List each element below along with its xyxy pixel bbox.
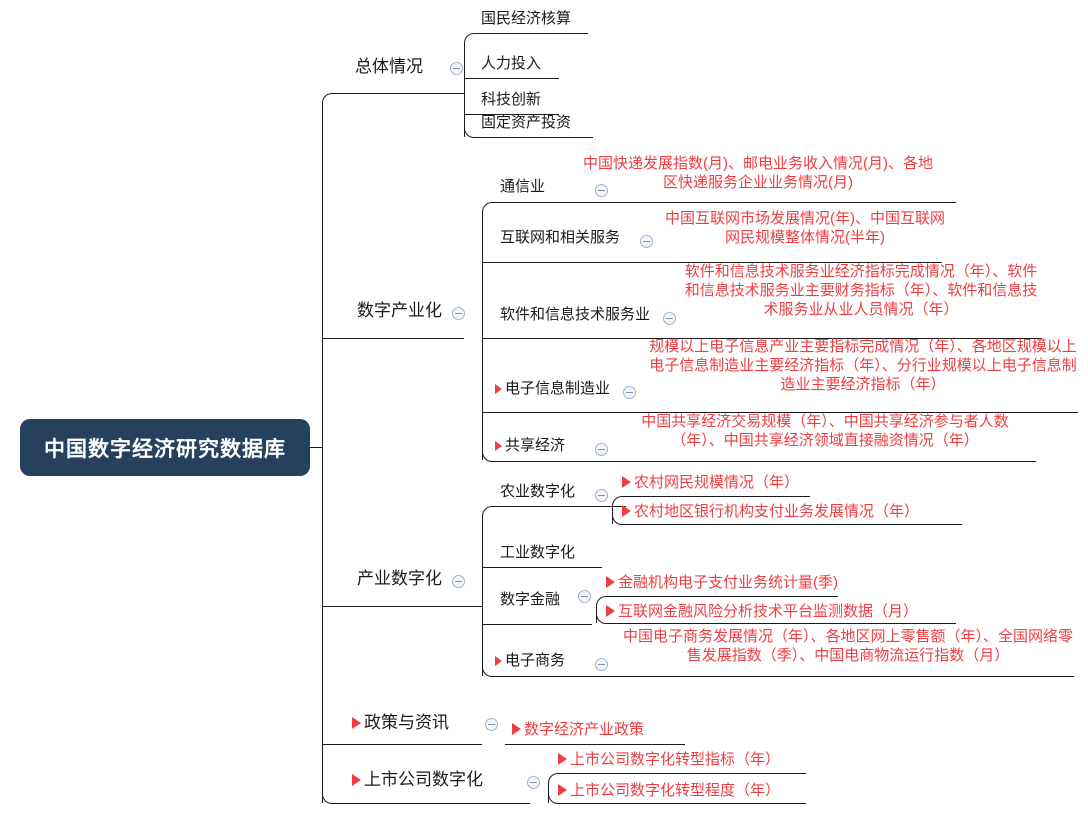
branch-上市公司数字化[interactable]: 上市公司数字化 [352, 769, 483, 790]
sub-label: 电子商务 [505, 652, 565, 669]
leaf-text: 金融机构电子支付业务统计量(季) [618, 574, 838, 591]
leaf-text: 规模以上电子信息产业主要指标完成情况（年）、各地区规模以上电子信息制造业主要经济… [649, 338, 1077, 393]
leaf-共享经济-indicators[interactable]: 中国共享经济交易规模（年）、中国共享经济参与者人数（年）、中国共享经济领域直接融… [620, 413, 1030, 451]
leaf-金融机构电子支付业务统计量[interactable]: 金融机构电子支付业务统计量(季) [606, 574, 838, 593]
red-triangle-icon [606, 576, 615, 588]
branch-工业数字化[interactable]: 工业数字化 [500, 544, 575, 563]
sub3-1-elbow [482, 506, 500, 518]
sub-label: 互联网和相关服务 [500, 229, 620, 246]
branch1-subspine [464, 43, 465, 137]
branch-软件和信息技术服务业[interactable]: 软件和信息技术服务业 [500, 306, 650, 325]
sub1-4-baseline [478, 137, 593, 138]
sub-label: 农业数字化 [500, 483, 575, 500]
branch1-elbow [322, 93, 342, 105]
branch-label: 数字产业化 [357, 301, 442, 320]
leaf-label: 科技创新 [481, 91, 541, 108]
leaf-上市公司数字化转型程度[interactable]: 上市公司数字化转型程度（年） [558, 782, 780, 801]
leaf-text: 中国快递发展指数(月)、邮电业务收入情况(月)、各地区快递服务企业业务情况(月) [583, 155, 933, 191]
red-triangle-icon [558, 784, 567, 796]
collapse-toggle-农业数字化[interactable] [595, 489, 608, 502]
leaf-label: 固定资产投资 [481, 114, 571, 131]
red-triangle-icon [606, 605, 615, 617]
leaf-text: 数字经济产业政策 [524, 721, 644, 738]
mindmap-canvas: 中国数字经济研究数据库 总体情况 国民经济核算 人力投入 科技创新 固定资产投资… [0, 0, 1088, 831]
sub1-1-elbow [464, 33, 482, 45]
red-triangle-icon [352, 774, 361, 786]
leaf-互联网金融风险分析技术平台监测数据[interactable]: 互联网金融风险分析技术平台监测数据（月） [606, 603, 918, 622]
leaf-互联网和相关服务-indicators[interactable]: 中国互联网市场发展情况(年)、中国互联网网民规模整体情况(半年) [665, 210, 945, 248]
root-label: 中国数字经济研究数据库 [44, 433, 286, 463]
branch4-baseline [322, 744, 482, 745]
sub3-1-1-baseline [622, 496, 810, 497]
branch3-baseline [322, 606, 482, 607]
branch-共享经济[interactable]: 共享经济 [495, 437, 565, 456]
collapse-toggle-软件和信息技术服务业[interactable] [663, 312, 676, 325]
red-triangle-icon [495, 656, 502, 666]
branch-农业数字化[interactable]: 农业数字化 [500, 483, 575, 502]
sub-label: 工业数字化 [500, 544, 575, 561]
sub3-2-baseline [482, 567, 602, 568]
collapse-toggle-互联网和相关服务[interactable] [640, 235, 653, 248]
collapse-toggle-总体情况[interactable] [450, 62, 463, 75]
sub2-1-elbow [482, 202, 500, 214]
branch-label: 上市公司数字化 [364, 770, 483, 789]
sub2-5-baseline [496, 461, 1036, 462]
sub5-2-baseline [558, 803, 806, 804]
leaf-label: 人力投入 [481, 55, 541, 72]
leaf-text: 软件和信息技术服务业经济指标完成情况（年）、软件和信息技术服务业主要财务指标（年… [685, 263, 1038, 318]
collapse-toggle-产业数字化[interactable] [452, 575, 465, 588]
leaf-text: 中国互联网市场发展情况(年)、中国互联网网民规模整体情况(半年) [665, 210, 945, 246]
sub-label: 软件和信息技术服务业 [500, 306, 650, 323]
collapse-toggle-电子商务[interactable] [595, 658, 608, 671]
leaf-text: 中国共享经济交易规模（年）、中国共享经济参与者人数（年）、中国共享经济领域直接融… [641, 413, 1009, 449]
leaf-固定资产投资[interactable]: 固定资产投资 [481, 114, 571, 133]
sub-label: 共享经济 [505, 437, 565, 454]
collapse-toggle-共享经济[interactable] [595, 443, 608, 456]
sub-label: 电子信息制造业 [505, 380, 610, 397]
sub1-2-baseline [464, 78, 559, 79]
red-triangle-icon [512, 723, 521, 735]
leaf-text: 农村网民规模情况（年） [634, 474, 799, 491]
branch2-baseline [322, 338, 464, 339]
sub3-1-2-baseline [622, 524, 962, 525]
leaf-text: 上市公司数字化转型程度（年） [570, 782, 780, 799]
collapse-toggle-上市公司数字化[interactable] [527, 776, 540, 789]
sub-label: 数字金融 [500, 591, 560, 608]
sub3-1-baseline [496, 506, 626, 507]
red-triangle-icon [495, 441, 502, 451]
branch-label: 政策与资讯 [364, 713, 449, 732]
sub4-1-baseline [505, 744, 685, 745]
leaf-text: 中国电子商务发展情况（年）、各地区网上零售额（年）、全国网络零售发展指数（季）、… [623, 628, 1073, 664]
root-connector [310, 447, 322, 448]
sub1-1-baseline [478, 33, 588, 34]
sub3-3-2-baseline [606, 623, 956, 624]
sub3-4-baseline [496, 676, 1074, 677]
root-node[interactable]: 中国数字经济研究数据库 [20, 419, 310, 476]
branch-数字金融[interactable]: 数字金融 [500, 591, 560, 610]
collapse-toggle-电子信息制造业[interactable] [623, 386, 636, 399]
branch-label: 总体情况 [355, 57, 423, 76]
branch-电子信息制造业[interactable]: 电子信息制造业 [495, 380, 610, 399]
branch-数字产业化[interactable]: 数字产业化 [357, 300, 442, 321]
leaf-text: 上市公司数字化转型指标（年） [570, 751, 780, 768]
leaf-text: 互联网金融风险分析技术平台监测数据（月） [618, 603, 918, 620]
sub3-3-baseline [482, 624, 592, 625]
leaf-上市公司数字化转型指标[interactable]: 上市公司数字化转型指标（年） [558, 751, 780, 770]
root-spine [322, 103, 323, 803]
red-triangle-icon [352, 717, 361, 729]
red-triangle-icon [558, 753, 567, 765]
leaf-label: 国民经济核算 [481, 10, 571, 27]
leaf-国民经济核算[interactable]: 国民经济核算 [481, 10, 571, 29]
branch-总体情况[interactable]: 总体情况 [355, 56, 423, 77]
collapse-toggle-政策与资讯[interactable] [485, 718, 498, 731]
leaf-人力投入[interactable]: 人力投入 [481, 55, 541, 74]
branch-政策与资讯[interactable]: 政策与资讯 [352, 712, 449, 733]
branch5-baseline [338, 803, 530, 804]
red-triangle-icon [622, 476, 631, 488]
leaf-通信业-indicators[interactable]: 中国快递发展指数(月)、邮电业务收入情况(月)、各地区快递服务企业业务情况(月) [578, 155, 938, 193]
leaf-科技创新[interactable]: 科技创新 [481, 91, 541, 110]
branch3-subspine [482, 516, 483, 676]
red-triangle-icon [622, 505, 631, 517]
leaf-软件和信息技术服务业-indicators[interactable]: 软件和信息技术服务业经济指标完成情况（年）、软件和信息技术服务业主要财务指标（年… [680, 263, 1042, 319]
leaf-农村地区银行机构支付业务发展情况[interactable]: 农村地区银行机构支付业务发展情况（年） [622, 503, 919, 522]
branch2-subspine [482, 212, 483, 460]
sub2-1-baseline [496, 202, 956, 203]
collapse-toggle-数字金融[interactable] [578, 590, 591, 603]
branch1-baseline [338, 93, 464, 94]
branch-产业数字化[interactable]: 产业数字化 [357, 568, 442, 589]
branch-通信业[interactable]: 通信业 [500, 178, 545, 197]
branch-电子商务[interactable]: 电子商务 [495, 652, 565, 671]
leaf-农村网民规模情况[interactable]: 农村网民规模情况（年） [622, 474, 799, 493]
leaf-电子商务-indicators[interactable]: 中国电子商务发展情况（年）、各地区网上零售额（年）、全国网络零售发展指数（季）、… [620, 628, 1076, 666]
collapse-toggle-数字产业化[interactable] [452, 307, 465, 320]
branch-互联网和相关服务[interactable]: 互联网和相关服务 [500, 229, 620, 248]
leaf-电子信息制造业-indicators[interactable]: 规模以上电子信息产业主要指标完成情况（年）、各地区规模以上电子信息制造业主要经济… [648, 338, 1078, 394]
leaf-text: 农村地区银行机构支付业务发展情况（年） [634, 503, 919, 520]
sub5-1-baseline [558, 773, 806, 774]
leaf-数字经济产业政策[interactable]: 数字经济产业政策 [512, 721, 644, 740]
sub-label: 通信业 [500, 178, 545, 195]
branch-label: 产业数字化 [357, 569, 442, 588]
red-triangle-icon [495, 384, 502, 394]
sub3-3-1-baseline [606, 596, 838, 597]
